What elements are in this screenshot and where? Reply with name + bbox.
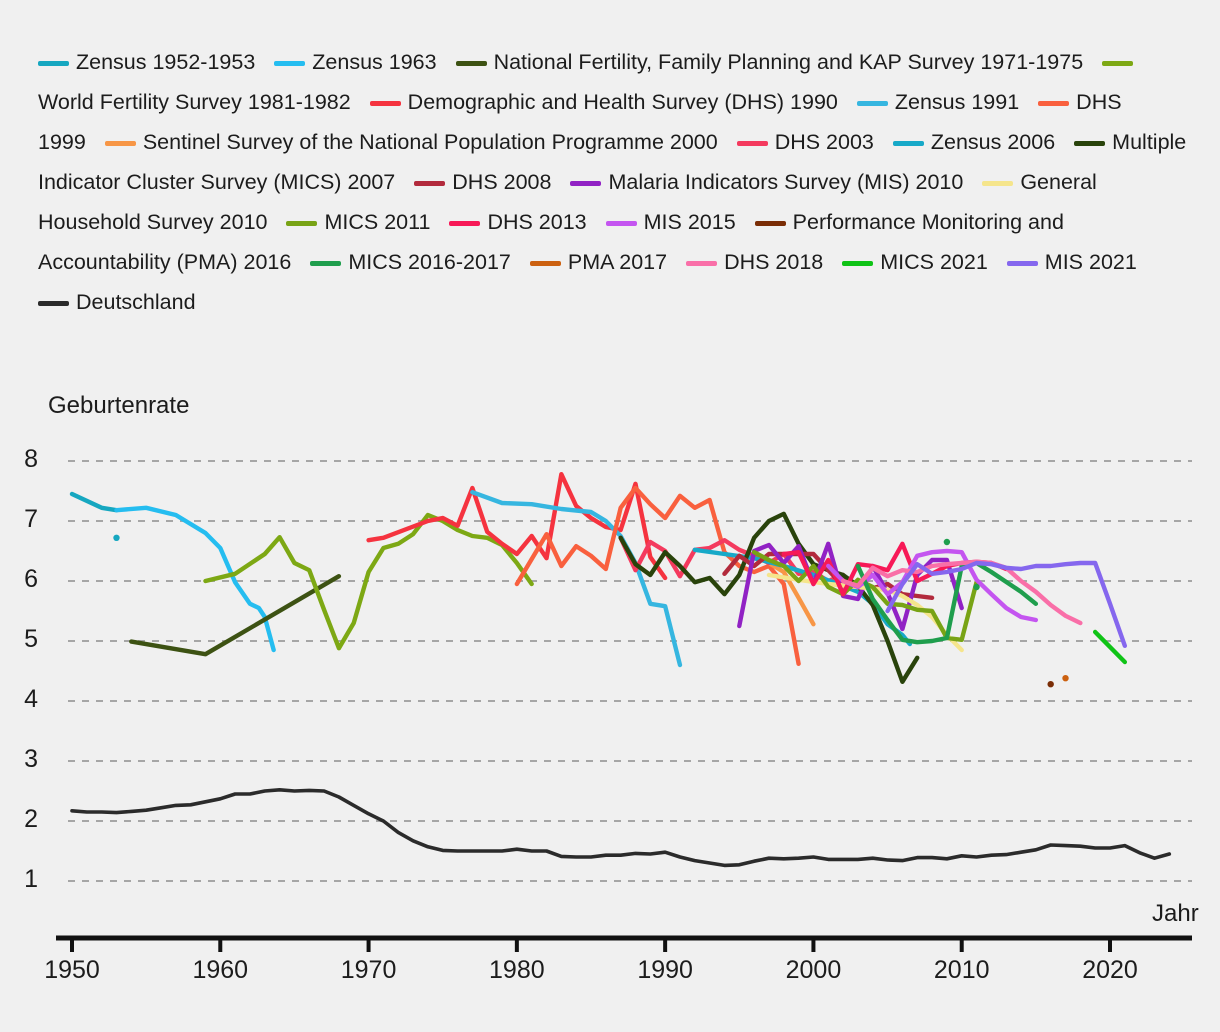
y-tick-label: 3 xyxy=(8,745,38,774)
data-point-marker xyxy=(973,584,979,590)
x-tick-label: 1990 xyxy=(620,956,710,985)
x-tick-label: 1950 xyxy=(27,956,117,985)
y-tick-label: 4 xyxy=(8,685,38,714)
y-tick-label: 8 xyxy=(8,445,38,474)
data-point-marker xyxy=(1062,675,1068,681)
y-tick-label: 6 xyxy=(8,565,38,594)
y-tick-label: 1 xyxy=(8,865,38,894)
x-tick-label: 2020 xyxy=(1065,956,1155,985)
x-tick-label: 1970 xyxy=(324,956,414,985)
data-series-line xyxy=(517,488,799,664)
data-series-line xyxy=(131,576,339,654)
data-series-line xyxy=(888,563,1125,646)
x-tick-label: 2010 xyxy=(917,956,1007,985)
y-tick-label: 7 xyxy=(8,505,38,534)
x-tick-label: 1980 xyxy=(472,956,562,985)
data-point-marker xyxy=(113,535,119,541)
line-chart-plot xyxy=(0,0,1220,1032)
y-tick-label: 5 xyxy=(8,625,38,654)
data-series-line xyxy=(72,494,116,510)
data-series-line xyxy=(472,492,680,665)
data-point-marker xyxy=(1047,681,1053,687)
y-tick-label: 2 xyxy=(8,805,38,834)
data-point-marker xyxy=(944,539,950,545)
x-tick-label: 2000 xyxy=(768,956,858,985)
x-tick-label: 1960 xyxy=(175,956,265,985)
data-series-line xyxy=(72,790,1169,866)
